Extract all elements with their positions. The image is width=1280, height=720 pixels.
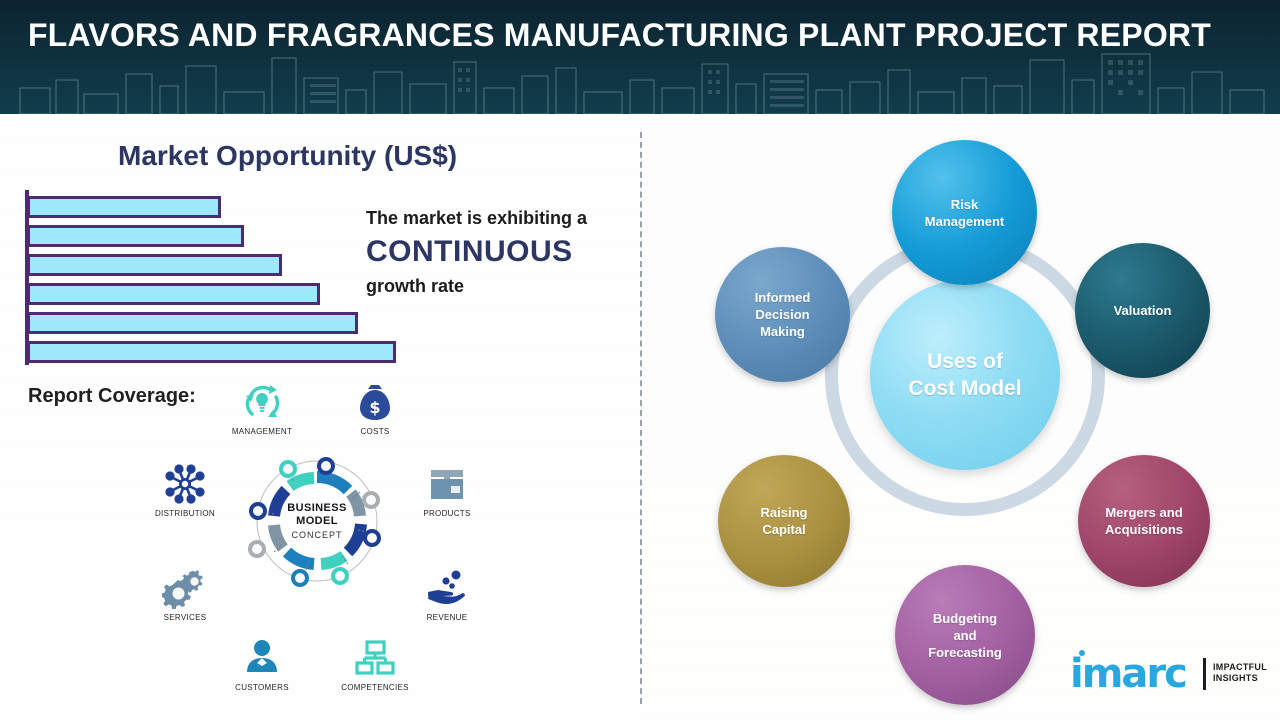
gears-icon — [137, 566, 233, 610]
imarc-logo[interactable]: imarc IMPACTFUL INSIGHTS — [1070, 650, 1260, 700]
vertical-dashed-divider — [640, 132, 642, 704]
market-callout-line1: The market is exhibiting a — [366, 205, 636, 231]
market-opportunity-title: Market Opportunity (US$) — [118, 140, 457, 172]
market-callout-emphasis: CONTINUOUS — [366, 231, 636, 273]
center-label: Uses of Cost Model — [902, 348, 1027, 402]
market-growth-callout: The market is exhibiting a CONTINUOUS gr… — [366, 205, 636, 299]
node-label-risk-management: RiskManagement — [919, 196, 1010, 230]
node-informed-decision-making[interactable]: InformedDecisionMaking — [715, 247, 850, 382]
bar-5 — [27, 312, 358, 334]
node-label-budgeting-forecasting: BudgetingandForecasting — [922, 610, 1008, 661]
node-raising-capital[interactable]: RaisingCapital — [718, 455, 850, 587]
coverage-label-competencies: COMPETENCIES — [327, 683, 423, 692]
svg-text:$: $ — [369, 398, 380, 417]
market-callout-line3: growth rate — [366, 273, 636, 299]
coverage-label-revenue: REVENUE — [399, 613, 495, 622]
hand-coins-icon — [399, 566, 495, 610]
coverage-item-distribution: DISTRIBUTION — [137, 462, 233, 518]
center-label-line2: Cost Model — [908, 377, 1021, 400]
uses-of-cost-model-diagram: Uses of Cost Model RiskManagement Valuat… — [700, 130, 1230, 690]
user-person-icon — [214, 636, 310, 680]
logo-tagline-line2: INSIGHTS — [1213, 673, 1267, 684]
slide-root: FLAVORS AND FRAGRANCES MANUFACTURING PLA… — [0, 0, 1280, 720]
node-label-valuation: Valuation — [1108, 302, 1178, 319]
coverage-item-customers: CUSTOMERS — [214, 636, 310, 692]
coverage-item-services: SERVICES — [137, 566, 233, 622]
logo-tagline: IMPACTFUL INSIGHTS — [1213, 662, 1267, 684]
money-bag-icon: $ — [327, 380, 423, 424]
node-mergers-acquisitions[interactable]: Mergers andAcquisitions — [1078, 455, 1210, 587]
header-banner: FLAVORS AND FRAGRANCES MANUFACTURING PLA… — [0, 0, 1280, 114]
package-box-icon — [399, 462, 495, 506]
market-opportunity-bar-chart — [25, 190, 405, 365]
bar-6 — [27, 341, 396, 363]
bar-4 — [27, 283, 320, 305]
node-label-informed-decision-making: InformedDecisionMaking — [749, 289, 817, 340]
business-model-title-line2: MODEL — [296, 515, 338, 528]
management-bulb-recycle-icon — [214, 380, 310, 424]
node-risk-management[interactable]: RiskManagement — [892, 140, 1037, 285]
bar-3 — [27, 254, 282, 276]
business-model-subtitle: CONCEPT — [291, 530, 342, 540]
node-label-mergers-acquisitions: Mergers andAcquisitions — [1099, 504, 1189, 538]
business-model-title-line1: BUSINESS — [287, 502, 346, 515]
coverage-item-revenue: REVENUE — [399, 566, 495, 622]
node-label-raising-capital: RaisingCapital — [755, 504, 814, 538]
node-center-uses-of-cost-model: Uses of Cost Model — [870, 280, 1060, 470]
logo-divider-bar — [1203, 658, 1206, 690]
coverage-label-distribution: DISTRIBUTION — [137, 509, 233, 518]
center-label-line1: Uses of — [927, 350, 1003, 373]
report-coverage-label: Report Coverage: — [28, 385, 196, 408]
business-model-center-label: BUSINESS MODEL CONCEPT — [248, 452, 386, 590]
business-model-wheel: BUSINESS MODEL CONCEPT — [248, 452, 386, 630]
coverage-label-costs: COSTS — [327, 427, 423, 436]
coverage-label-customers: CUSTOMERS — [214, 683, 310, 692]
logo-wordmark: imarc — [1070, 654, 1186, 694]
coverage-item-costs: $ COSTS — [327, 380, 423, 436]
coverage-item-products: PRODUCTS — [399, 462, 495, 518]
org-chart-icon — [327, 636, 423, 680]
bar-2 — [27, 225, 244, 247]
coverage-label-services: SERVICES — [137, 613, 233, 622]
coverage-label-management: MANAGEMENT — [214, 427, 310, 436]
bar-1 — [27, 196, 221, 218]
page-title: FLAVORS AND FRAGRANCES MANUFACTURING PLA… — [28, 14, 1218, 56]
logo-tagline-line1: IMPACTFUL — [1213, 662, 1267, 673]
coverage-item-management: MANAGEMENT — [214, 380, 310, 436]
network-nodes-icon — [137, 462, 233, 506]
coverage-item-competencies: COMPETENCIES — [327, 636, 423, 692]
coverage-label-products: PRODUCTS — [399, 509, 495, 518]
node-budgeting-forecasting[interactable]: BudgetingandForecasting — [895, 565, 1035, 705]
node-valuation[interactable]: Valuation — [1075, 243, 1210, 378]
